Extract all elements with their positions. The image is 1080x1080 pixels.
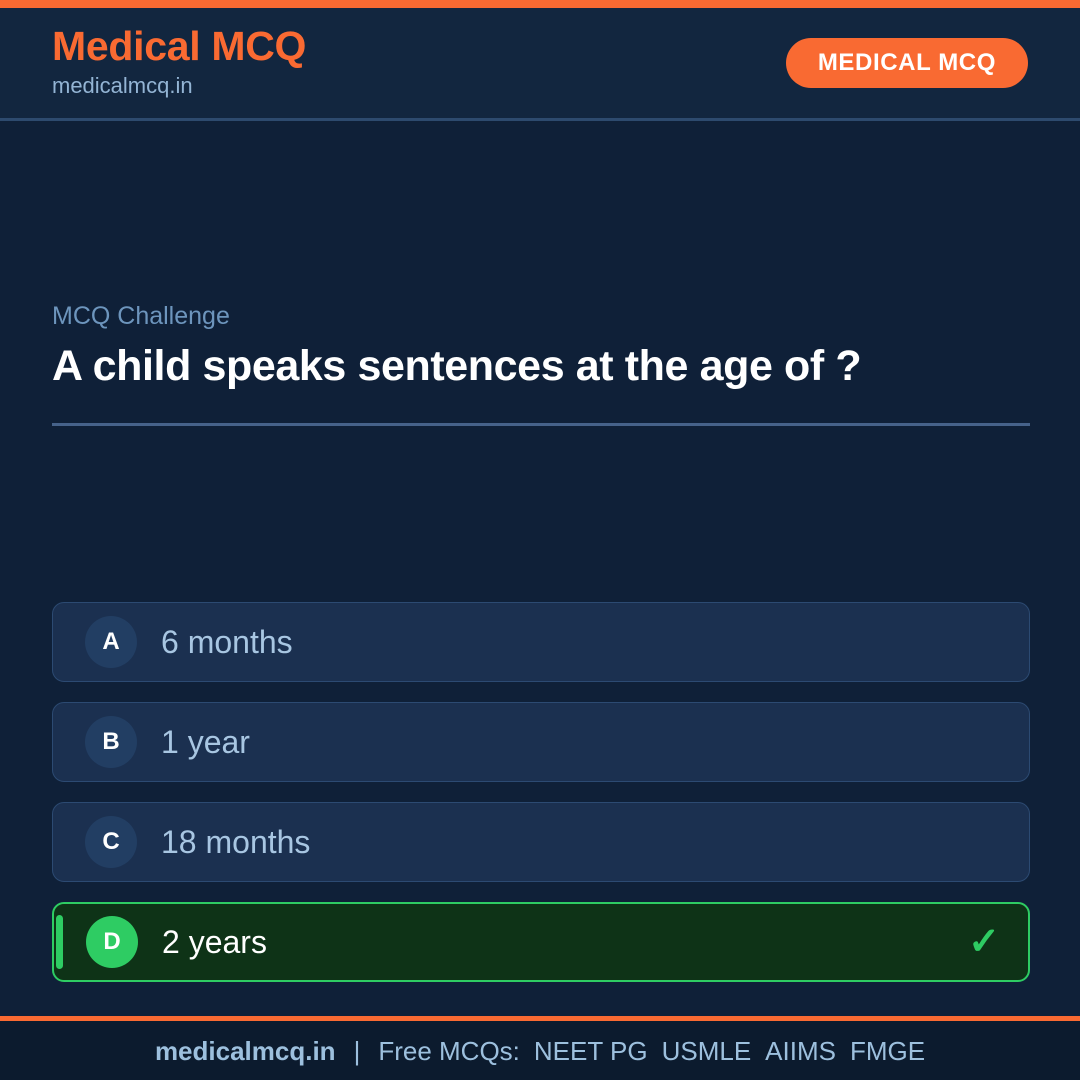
question-title: A child speaks sentences at the age of ? <box>52 341 992 393</box>
option-row-a[interactable]: A 6 months <box>52 602 1030 682</box>
page-footer: medicalmcq.in | Free MCQs: NEET PG USMLE… <box>0 1016 1080 1080</box>
mcq-card: Medical MCQ medicalmcq.in MEDICAL MCQ MC… <box>0 0 1080 1080</box>
top-accent-bar <box>0 0 1080 8</box>
question-block: MCQ Challenge A child speaks sentences a… <box>52 301 1030 426</box>
options-list: A 6 months B 1 year C 18 months D 2 year… <box>52 602 1030 1002</box>
option-text: 2 years <box>162 926 267 958</box>
footer-exam-usmle: USMLE <box>662 1038 752 1064</box>
main-content: MCQ Challenge A child speaks sentences a… <box>0 121 1080 1016</box>
footer-exam-aiims: AIIMS <box>765 1038 836 1064</box>
footer-exam-neet-pg: NEET PG <box>534 1038 648 1064</box>
brand-title: Medical MCQ <box>52 25 306 68</box>
option-text: 1 year <box>161 726 250 758</box>
option-text: 6 months <box>161 626 293 658</box>
footer-label: Free MCQs: <box>378 1038 520 1064</box>
eyebrow-label: MCQ Challenge <box>52 301 1030 331</box>
check-icon: ✓ <box>968 923 1000 961</box>
brand-subtitle: medicalmcq.in <box>52 72 306 101</box>
page-header: Medical MCQ medicalmcq.in MEDICAL MCQ <box>0 8 1080 121</box>
option-row-b[interactable]: B 1 year <box>52 702 1030 782</box>
footer-site: medicalmcq.in <box>155 1038 336 1064</box>
option-letter-badge: D <box>86 916 138 968</box>
option-letter-badge: A <box>85 616 137 668</box>
question-divider <box>52 423 1030 426</box>
footer-separator: | <box>354 1038 361 1064</box>
footer-exam-fmge: FMGE <box>850 1038 925 1064</box>
option-letter-badge: B <box>85 716 137 768</box>
option-text: 18 months <box>161 826 310 858</box>
footer-text: medicalmcq.in | Free MCQs: NEET PG USMLE… <box>155 1038 925 1064</box>
option-letter-badge: C <box>85 816 137 868</box>
header-badge: MEDICAL MCQ <box>786 38 1028 88</box>
correct-accent-bar <box>56 915 63 969</box>
brand: Medical MCQ medicalmcq.in <box>52 25 306 101</box>
option-row-d[interactable]: D 2 years ✓ <box>52 902 1030 982</box>
option-row-c[interactable]: C 18 months <box>52 802 1030 882</box>
